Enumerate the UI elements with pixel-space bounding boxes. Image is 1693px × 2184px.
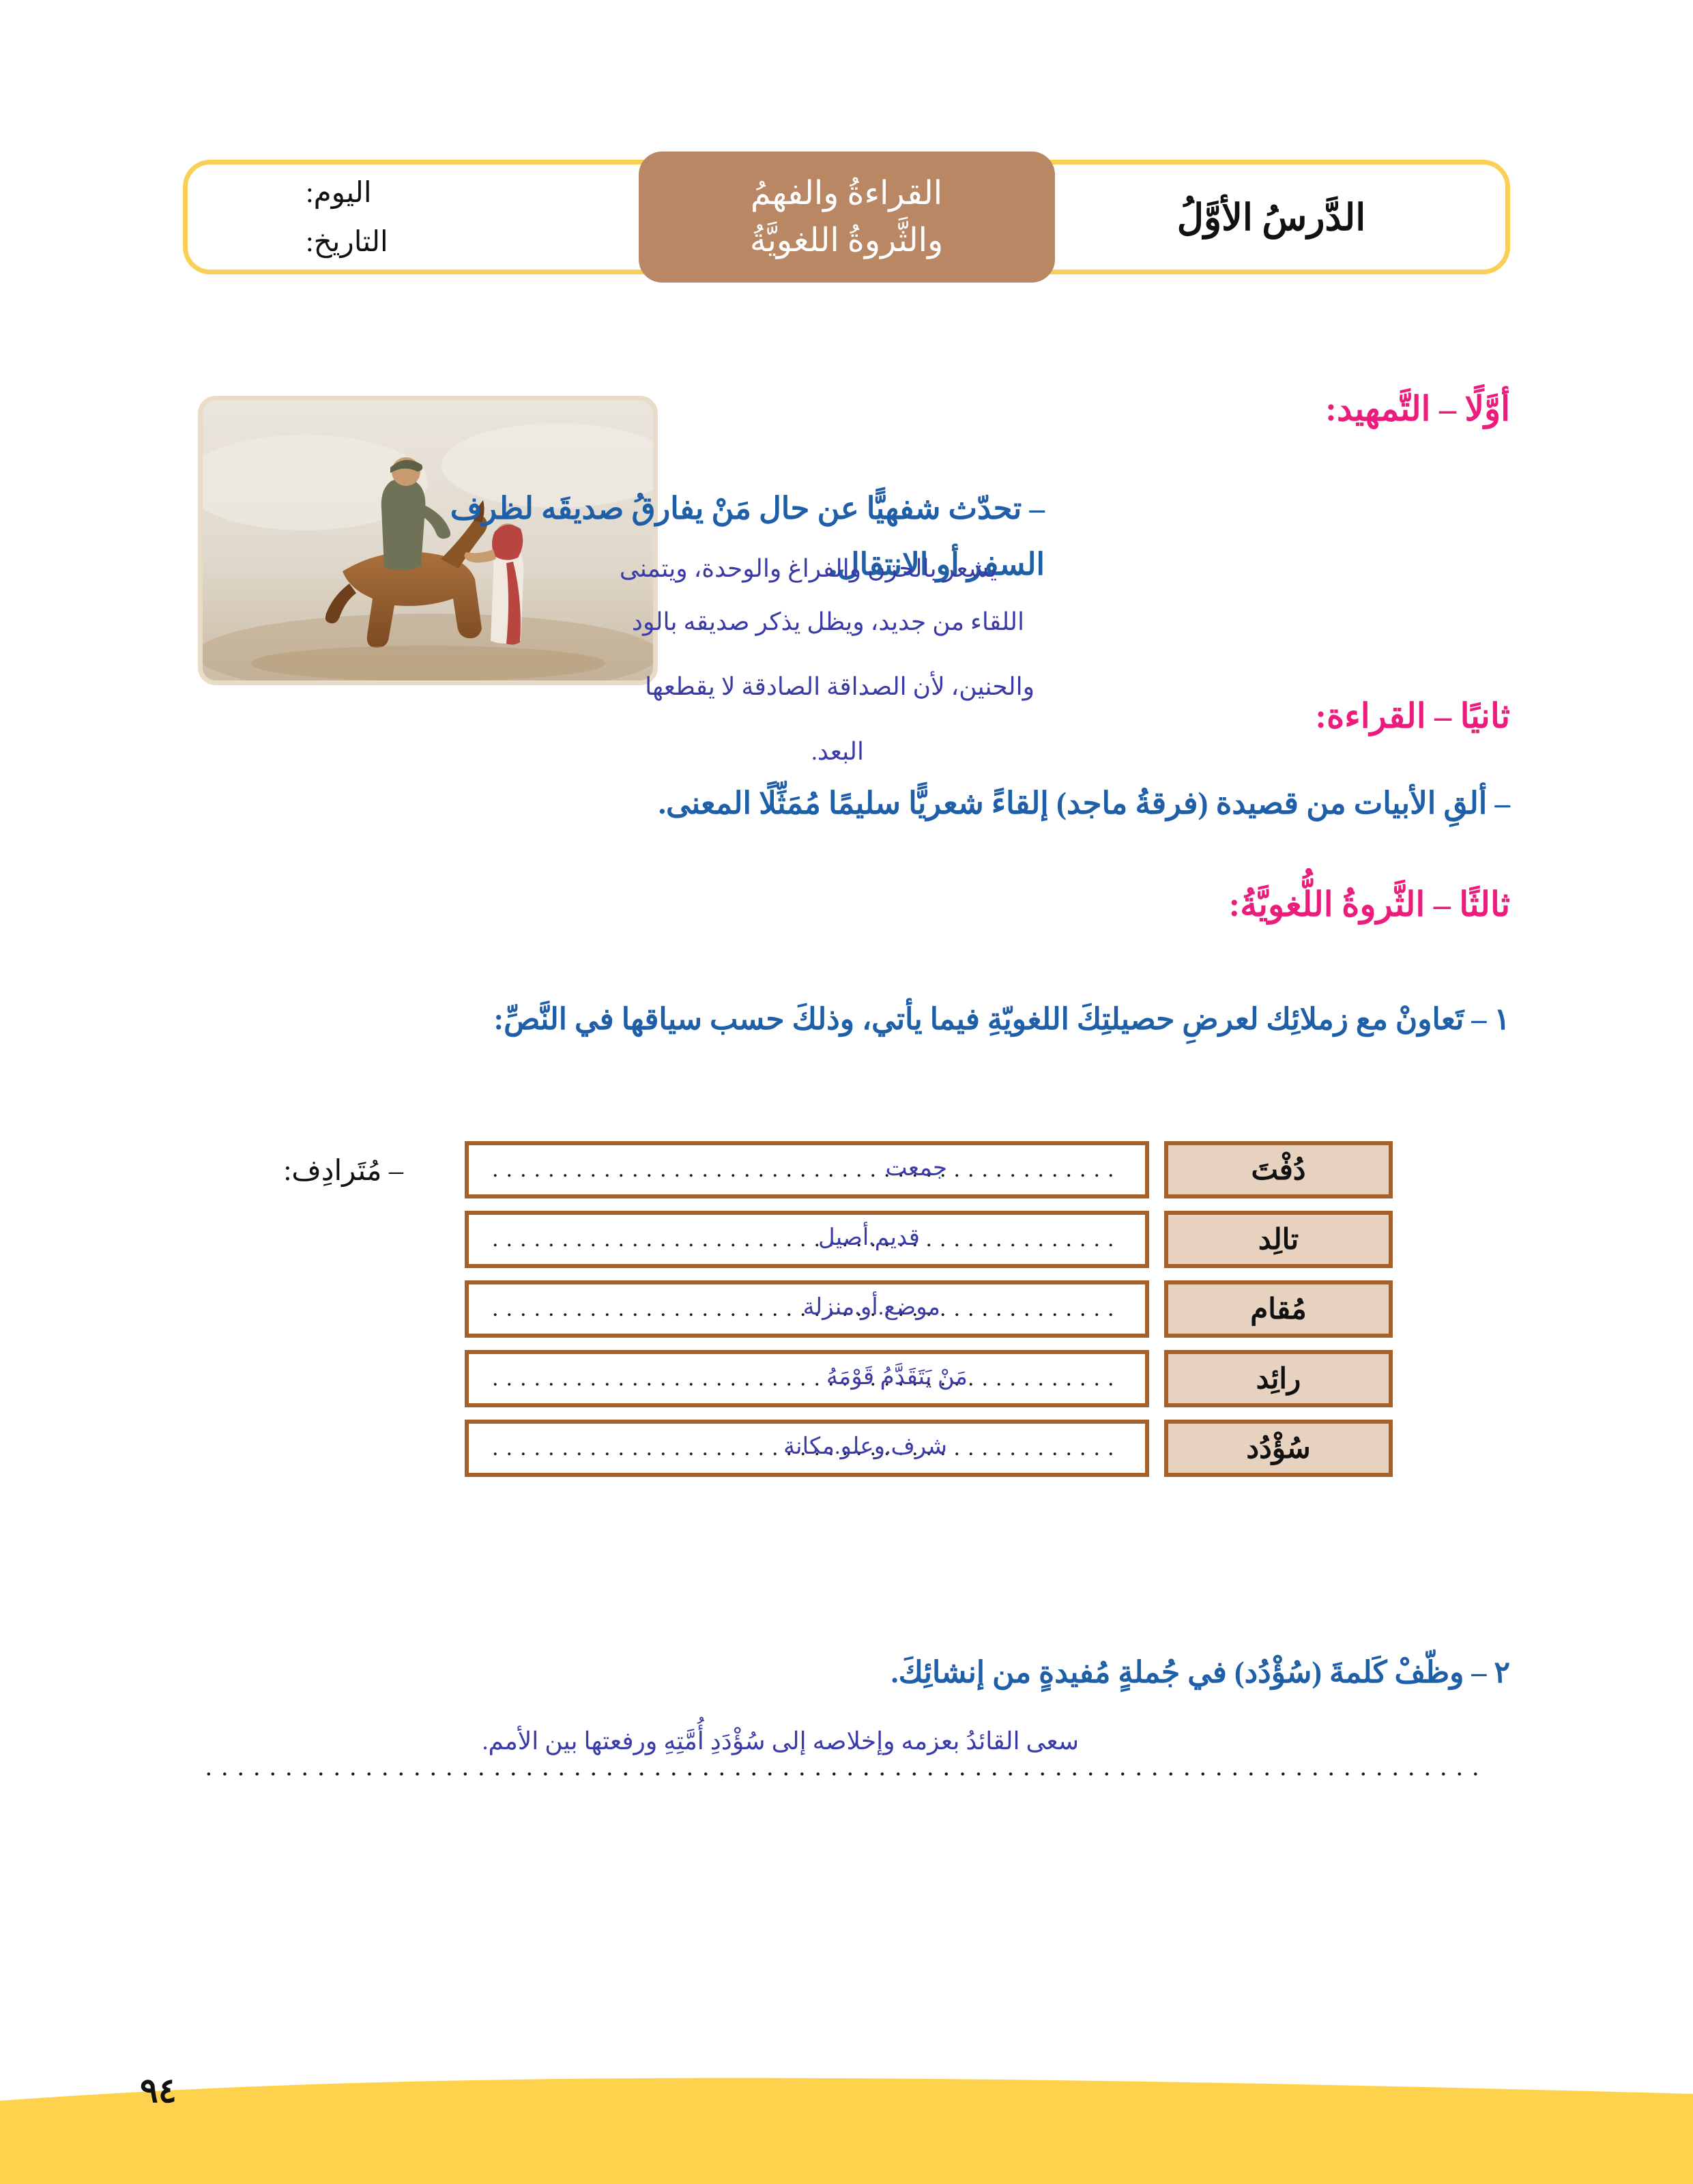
handwritten-answer-line-1: يشعر بالحزن والفراغ والوحدة، ويتمنى xyxy=(620,554,997,583)
vocab-answer-field[interactable]: ........................................… xyxy=(465,1211,1149,1268)
day-label: اليوم: xyxy=(306,175,372,210)
vocab-word: دُفْتَ xyxy=(1164,1141,1393,1198)
date-label: التاريخ: xyxy=(306,225,388,259)
lesson-illustration xyxy=(198,396,658,685)
table-row: مُقام ..................................… xyxy=(465,1280,1393,1338)
table-row: رائِد ..................................… xyxy=(465,1350,1393,1407)
dotted-line: ........................................… xyxy=(492,1158,1122,1181)
handwritten-answer-line-2: اللقاء من جديد، ويظل يذكر صديقه بالود xyxy=(632,607,1024,636)
vocab-answer-field[interactable]: ........................................… xyxy=(465,1280,1149,1338)
vocab-word: سُؤْدُد xyxy=(1164,1420,1393,1477)
table-row: سُؤْدُد ................................… xyxy=(465,1420,1393,1477)
page-number: ٩٤ xyxy=(140,2071,177,2110)
table-row: دُفْتَ .................................… xyxy=(465,1141,1393,1198)
tamheed-prompt-line-1: – تحدّث شفهيًّا عن حال مَنْ يفارقُ صديقَ… xyxy=(450,490,1045,526)
vocab-word: تالِد xyxy=(1164,1211,1393,1268)
exercise-1-prompt: ١ – تَعاونْ مع زملائِك لعرضِ حصيلتِكَ ال… xyxy=(494,1002,1510,1037)
footer-decoration xyxy=(0,2027,1693,2184)
vocab-answer-text: مَنْ يَتَقَدَّمُ قَوْمَهُ xyxy=(826,1363,968,1390)
footer-wave xyxy=(0,2027,1693,2184)
section-heading-tharwa: ثالثًا – الثَّروةُ اللُّغويَّةُ: xyxy=(1229,885,1510,924)
vocab-answer-field[interactable]: ........................................… xyxy=(465,1141,1149,1198)
vocab-answer-text: قديم.أصيل xyxy=(818,1224,920,1251)
section-heading-tamheed: أوَّلًا – التَّمهيد: xyxy=(1325,389,1510,429)
page-header: الدَّرسُ الأوَّلُ اليوم: التاريخ: القراء… xyxy=(183,152,1510,281)
vocab-word: مُقام xyxy=(1164,1280,1393,1338)
date-block: اليوم: التاريخ: xyxy=(183,160,620,274)
handwritten-answer-line-4: البعد. xyxy=(811,737,864,766)
dotted-line: ........................................… xyxy=(492,1228,1122,1251)
vocab-table: دُفْتَ .................................… xyxy=(465,1141,1393,1489)
section-heading-qiraah: ثانيًا – القراءة: xyxy=(1315,696,1510,736)
vocab-answer-field[interactable]: ........................................… xyxy=(465,1420,1149,1477)
handwritten-answer-line-3: والحنين، لأن الصداقة الصادقة لا يقطعها xyxy=(645,672,1034,701)
lesson-title: الدَّرسُ الأوَّلُ xyxy=(1032,160,1510,274)
vocab-answer-field[interactable]: ........................................… xyxy=(465,1350,1149,1407)
badge-line-2: والثَّروةُ اللغويَّةُ xyxy=(750,222,943,259)
qiraah-prompt: – ألقِ الأبيات من قصيدة (فرقةُ ماجد) إلق… xyxy=(659,785,1510,821)
worksheet-page: الدَّرسُ الأوَّلُ اليوم: التاريخ: القراء… xyxy=(0,0,1693,2184)
vocab-word: رائِد xyxy=(1164,1350,1393,1407)
exercise-2-dotted-line: ........................................… xyxy=(205,1754,1488,1780)
exercise-2-answer-text: سعى القائدُ بعزمه وإخلاصه إلى سُؤْدَدِ أ… xyxy=(482,1727,1079,1755)
unit-badge: القراءةُ والفهمُ والثَّروةُ اللغويَّةُ xyxy=(639,152,1055,283)
vocab-label-mutaradif: – مُتَرادِف: xyxy=(284,1153,403,1188)
vocab-answer-text: موضع.أو.منزلة xyxy=(803,1293,940,1321)
vocab-answer-text: جمعت xyxy=(886,1154,947,1181)
badge-line-1: القراءةُ والفهمُ xyxy=(751,175,942,212)
exercise-2-prompt: ٢ – وظّفْ كَلمةَ (سُؤْدُد) في جُملةٍ مُف… xyxy=(891,1655,1510,1690)
dotted-line: ........................................… xyxy=(492,1367,1122,1390)
illustration-art xyxy=(203,401,653,680)
vocab-answer-text: شرف.وعلو.مكانة xyxy=(783,1433,947,1460)
table-row: تالِد ..................................… xyxy=(465,1211,1393,1268)
